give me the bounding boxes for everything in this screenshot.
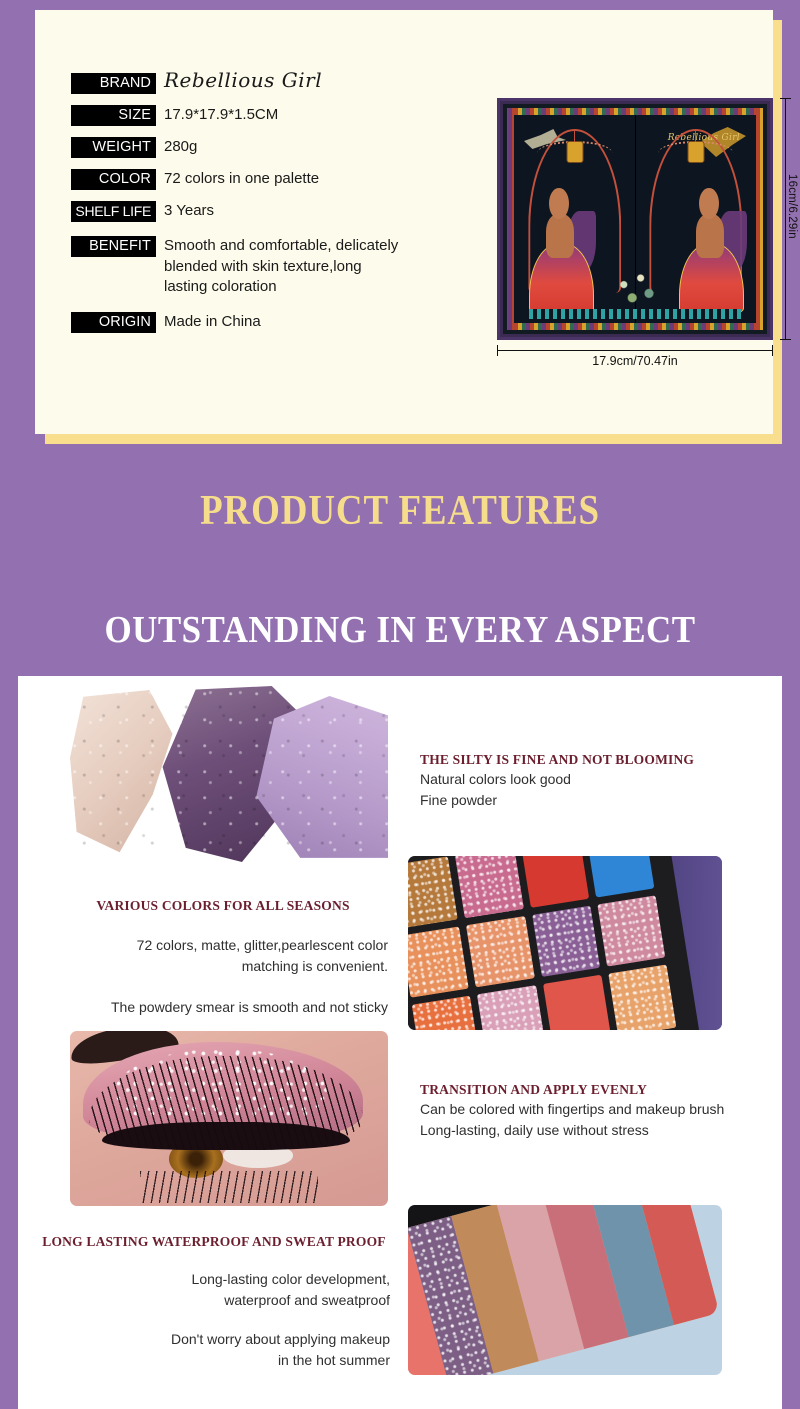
feature-para-long-1: Don't worry about applying makeup xyxy=(38,1330,390,1349)
feature-line-transition-1: Can be colored with fingertips and makeu… xyxy=(420,1100,760,1119)
spec-row-brand: BRAND Rebellious Girl xyxy=(71,73,411,94)
spec-value-shelf-life: 3 Years xyxy=(164,201,214,222)
feature-para-colors: The powdery smear is smooth and not stic… xyxy=(58,998,388,1017)
feature-block-silty: THE SILTY IS FINE AND NOT BLOOMING Natur… xyxy=(420,752,750,810)
outstanding-heading: OUTSTANDING IN EVERY ASPECT xyxy=(32,608,768,652)
spec-label-origin: ORIGIN xyxy=(71,312,156,333)
feature-title-long-lasting: LONG LASTING WATERPROOF AND SWEAT PROOF xyxy=(38,1234,390,1250)
spec-value-origin: Made in China xyxy=(164,312,261,333)
spec-row-shelf-life: SHELF LIFE 3 Years xyxy=(71,201,411,222)
feature-title-colors: VARIOUS COLORS FOR ALL SEASONS xyxy=(58,898,388,914)
spec-card: BRAND Rebellious Girl SIZE 17.9*17.9*1.5… xyxy=(35,10,773,434)
arm-swatch-image xyxy=(408,1205,722,1375)
spec-label-color: COLOR xyxy=(71,169,156,190)
spec-label-weight: WEIGHT xyxy=(71,137,156,158)
dimension-height: 16cm/6.29in xyxy=(775,98,797,340)
feature-line-silty-2: Fine powder xyxy=(420,791,750,810)
features-card: THE SILTY IS FINE AND NOT BLOOMING Natur… xyxy=(18,676,782,1409)
dimension-width: 17.9cm/70.47in xyxy=(497,342,773,368)
flower-motif xyxy=(607,267,663,311)
spec-row-color: COLOR 72 colors in one palette xyxy=(71,169,411,190)
spec-table: BRAND Rebellious Girl SIZE 17.9*17.9*1.5… xyxy=(71,73,411,344)
eye-closeup-image xyxy=(70,1031,388,1206)
feature-line-colors-2: matching is convenient. xyxy=(58,957,388,976)
spec-value-color: 72 colors in one palette xyxy=(164,169,319,190)
feature-block-colors: VARIOUS COLORS FOR ALL SEASONS 72 colors… xyxy=(58,898,388,1017)
spec-value-benefit: Smooth and comfortable, delicately blend… xyxy=(164,236,404,298)
feature-title-silty: THE SILTY IS FINE AND NOT BLOOMING xyxy=(420,752,750,768)
spec-row-origin: ORIGIN Made in China xyxy=(71,312,411,333)
feature-para-long-2: in the hot summer xyxy=(38,1351,390,1370)
spec-value-weight: 280g xyxy=(164,137,197,158)
feature-line-transition-2: Long-lasting, daily use without stress xyxy=(420,1121,760,1140)
palette-pans-image xyxy=(408,856,722,1030)
product-features-heading: PRODUCT FEATURES xyxy=(48,487,752,535)
dimension-height-label: 16cm/6.29in xyxy=(786,174,798,239)
feature-line-long-2: waterproof and sweatproof xyxy=(38,1291,390,1310)
spec-label-benefit: BENEFIT xyxy=(71,236,156,257)
spec-label-brand: BRAND xyxy=(71,73,156,94)
feature-line-silty-1: Natural colors look good xyxy=(420,770,750,789)
spec-row-weight: WEIGHT 280g xyxy=(71,137,411,158)
product-photo-with-dimensions: Rebellious Girl xyxy=(497,98,785,368)
feature-block-long-lasting: LONG LASTING WATERPROOF AND SWEAT PROOF … xyxy=(38,1234,390,1370)
palette-pan-grid xyxy=(408,856,687,1030)
feature-block-transition: TRANSITION AND APPLY EVENLY Can be color… xyxy=(420,1082,760,1140)
palette-cover-image: Rebellious Girl xyxy=(497,98,773,340)
spec-row-benefit: BENEFIT Smooth and comfortable, delicate… xyxy=(71,236,411,298)
feature-line-long-1: Long-lasting color development, xyxy=(38,1270,390,1289)
spec-label-size: SIZE xyxy=(71,105,156,126)
powder-texture-image xyxy=(70,686,388,862)
feature-line-colors-1: 72 colors, matte, glitter,pearlescent co… xyxy=(58,936,388,955)
spec-value-brand: Rebellious Girl xyxy=(164,70,322,91)
spec-label-shelf-life: SHELF LIFE xyxy=(71,201,156,222)
feature-title-transition: TRANSITION AND APPLY EVENLY xyxy=(420,1082,760,1098)
product-spec-section: BRAND Rebellious Girl SIZE 17.9*17.9*1.5… xyxy=(0,0,800,460)
dimension-width-label: 17.9cm/70.47in xyxy=(497,354,773,368)
spec-value-size: 17.9*17.9*1.5CM xyxy=(164,105,278,126)
spec-row-size: SIZE 17.9*17.9*1.5CM xyxy=(71,105,411,126)
